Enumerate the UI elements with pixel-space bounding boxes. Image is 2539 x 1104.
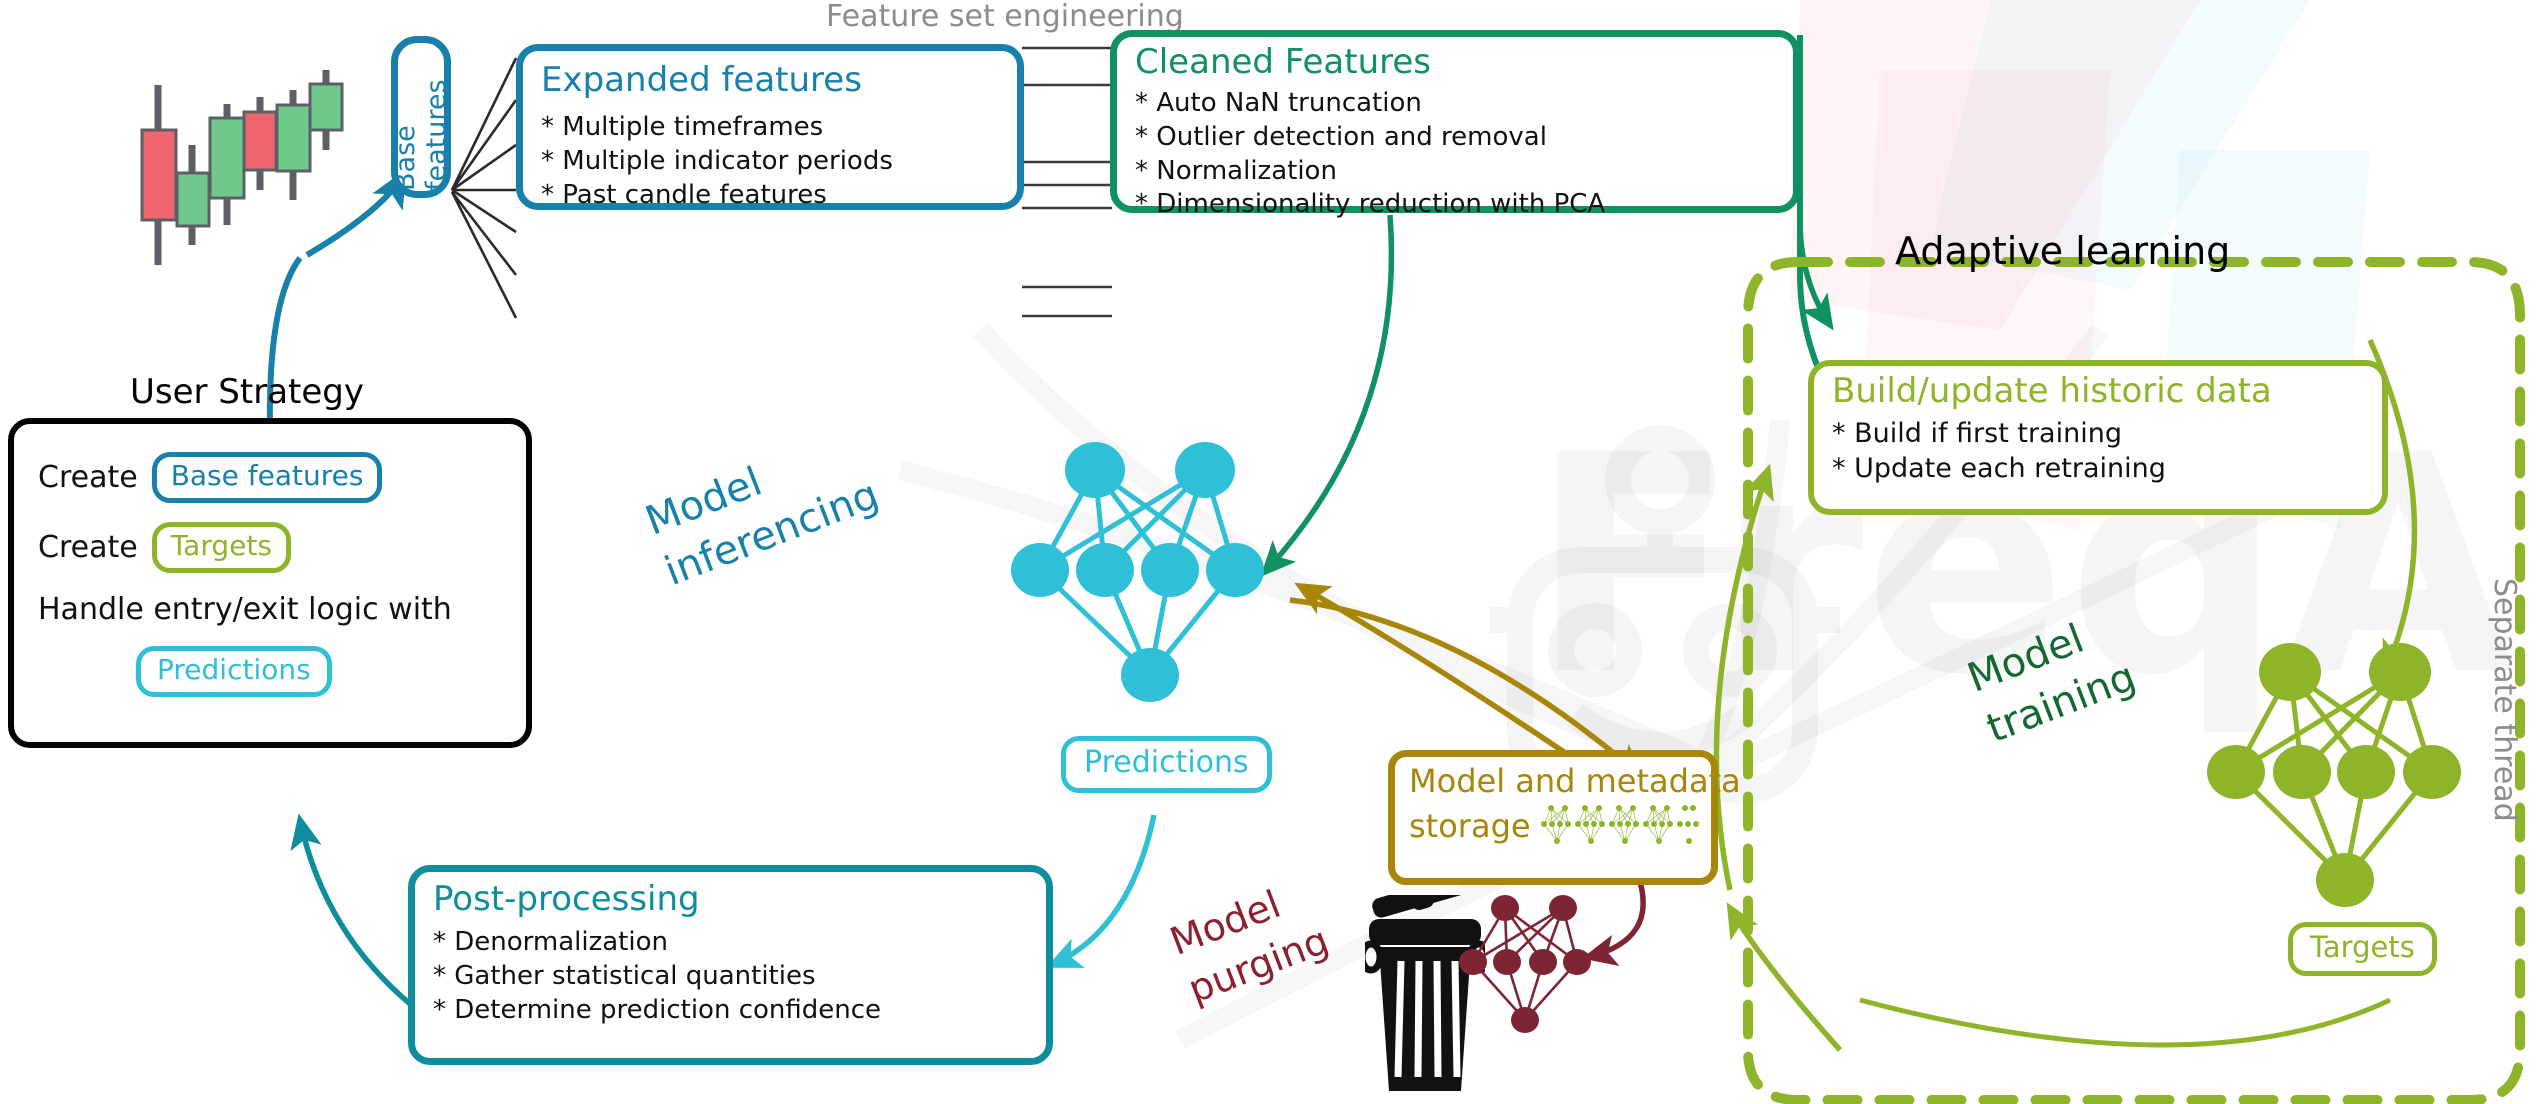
post-processing-title: Post-processing xyxy=(433,882,1046,916)
candle-1 xyxy=(142,85,176,265)
expanded-features-bullet-0: * Multiple timeframes xyxy=(541,111,1017,145)
cleaned-features-bullet-0: * Auto NaN truncation xyxy=(1135,87,1793,121)
build-update-bullet-1: * Update each retraining xyxy=(1832,451,2382,486)
strategy-chip-predictions[interactable]: Predictions xyxy=(136,646,332,697)
model-storage-title-line2: storage xyxy=(1409,810,1531,842)
post-processing-box[interactable]: Post-processing * Denormalization * Gath… xyxy=(408,865,1053,1065)
predictions-pill[interactable]: Predictions xyxy=(1061,736,1272,793)
cleaned-features-bullet-2: * Normalization xyxy=(1135,155,1793,189)
post-processing-bullet-0: * Denormalization xyxy=(433,926,1046,960)
strategy-chip-targets[interactable]: Targets xyxy=(152,522,291,573)
candle-3 xyxy=(210,104,244,225)
strategy-create-label-2: Create xyxy=(38,530,138,565)
user-strategy-header: User Strategy xyxy=(130,372,364,412)
model-storage-box[interactable]: Model and metadata storage xyxy=(1388,750,1718,885)
training-network-icon xyxy=(2200,630,2500,940)
model-storage-title-line1: Model and metadata xyxy=(1409,765,1711,797)
expanded-features-title: Expanded features xyxy=(541,63,1017,97)
cleaned-features-box[interactable]: Cleaned Features * Auto NaN truncation *… xyxy=(1110,30,1800,213)
candle-5 xyxy=(277,90,310,200)
feature-set-engineering-header: Feature set engineering xyxy=(826,0,1184,34)
content-layer: Base features Feature set engineering Ex… xyxy=(0,0,2539,1104)
expanded-features-bullet-2: * Past candle features xyxy=(541,179,1017,213)
targets-pill-training[interactable]: Targets xyxy=(2288,922,2437,976)
base-features-label: Base features xyxy=(390,43,452,191)
stored-models-icon xyxy=(1541,803,1699,849)
model-training-label-group: Model training xyxy=(1960,655,2115,763)
candle-4 xyxy=(244,97,276,190)
candle-2 xyxy=(177,145,209,245)
inference-network-icon xyxy=(1000,430,1310,730)
candle-6 xyxy=(310,70,342,150)
diagram-canvas: FreqAI xyxy=(0,0,2539,1104)
candlestick-chart xyxy=(130,60,350,330)
expanded-features-box[interactable]: Expanded features * Multiple timeframes … xyxy=(516,44,1024,210)
user-strategy-box[interactable]: Create Base features Create Targets Hand… xyxy=(8,418,532,748)
adaptive-learning-header: Adaptive learning xyxy=(1895,229,2230,273)
model-purging-label-group: Model purging xyxy=(1163,920,1309,1023)
cleaned-features-title: Cleaned Features xyxy=(1135,45,1793,79)
model-inferencing-label-group: Model inferencing xyxy=(638,498,863,606)
post-processing-bullet-2: * Determine prediction confidence xyxy=(433,994,1046,1028)
build-update-box[interactable]: Build/update historic data * Build if fi… xyxy=(1808,360,2388,515)
expanded-features-bullet-1: * Multiple indicator periods xyxy=(541,145,1017,179)
cleaned-features-bullet-1: * Outlier detection and removal xyxy=(1135,121,1793,155)
strategy-entry-exit-label: Handle entry/exit logic with xyxy=(38,592,452,627)
base-features-pill[interactable]: Base features xyxy=(391,36,451,198)
build-update-bullet-0: * Build if first training xyxy=(1832,416,2382,451)
post-processing-bullet-1: * Gather statistical quantities xyxy=(433,960,1046,994)
cleaned-features-bullet-3: * Dimensionality reduction with PCA xyxy=(1135,188,1793,222)
strategy-chip-base-features[interactable]: Base features xyxy=(152,452,383,503)
build-update-title: Build/update historic data xyxy=(1832,374,2382,408)
strategy-create-label-1: Create xyxy=(38,460,138,495)
purged-network-icon xyxy=(1455,890,1615,1050)
